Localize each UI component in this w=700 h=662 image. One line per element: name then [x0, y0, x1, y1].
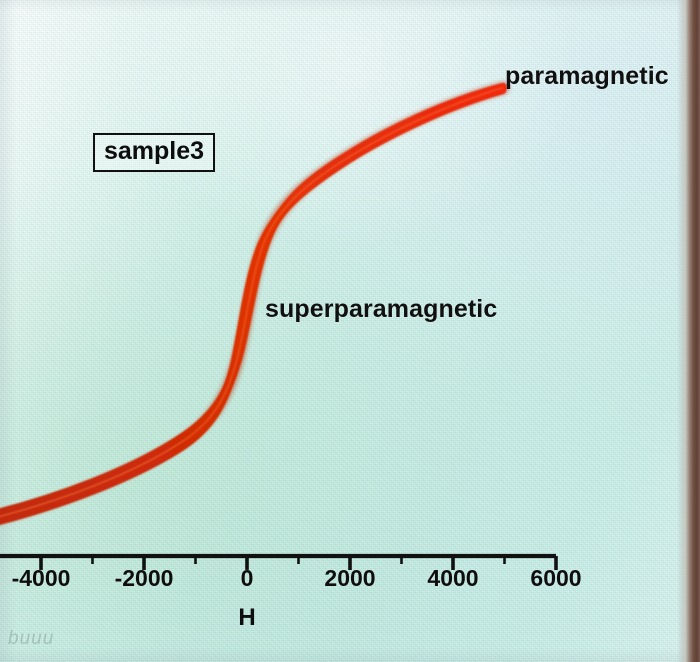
scan-edge-dark-strip — [686, 0, 700, 662]
x-tick-label-m2000: -2000 — [115, 565, 174, 592]
x-tick-label-m4000: -4000 — [12, 565, 71, 592]
paramagnetic-annotation: paramagnetic — [505, 62, 669, 91]
scan-watermark: buuu — [8, 628, 54, 650]
x-tick-label-4000: 4000 — [427, 565, 478, 592]
sample-label-box: sample3 — [93, 133, 215, 172]
scan-edge-gradient — [677, 0, 686, 662]
hysteresis-plot — [0, 0, 700, 662]
x-tick-label-0: 0 — [241, 565, 254, 592]
figure-scan: -4000 -2000 0 2000 4000 6000 H sample3 p… — [0, 0, 700, 662]
x-tick-label-2000: 2000 — [324, 565, 375, 592]
superparamagnetic-annotation: superparamagnetic — [265, 295, 497, 324]
x-axis-title: H — [238, 604, 255, 632]
x-tick-label-6000: 6000 — [530, 565, 581, 592]
